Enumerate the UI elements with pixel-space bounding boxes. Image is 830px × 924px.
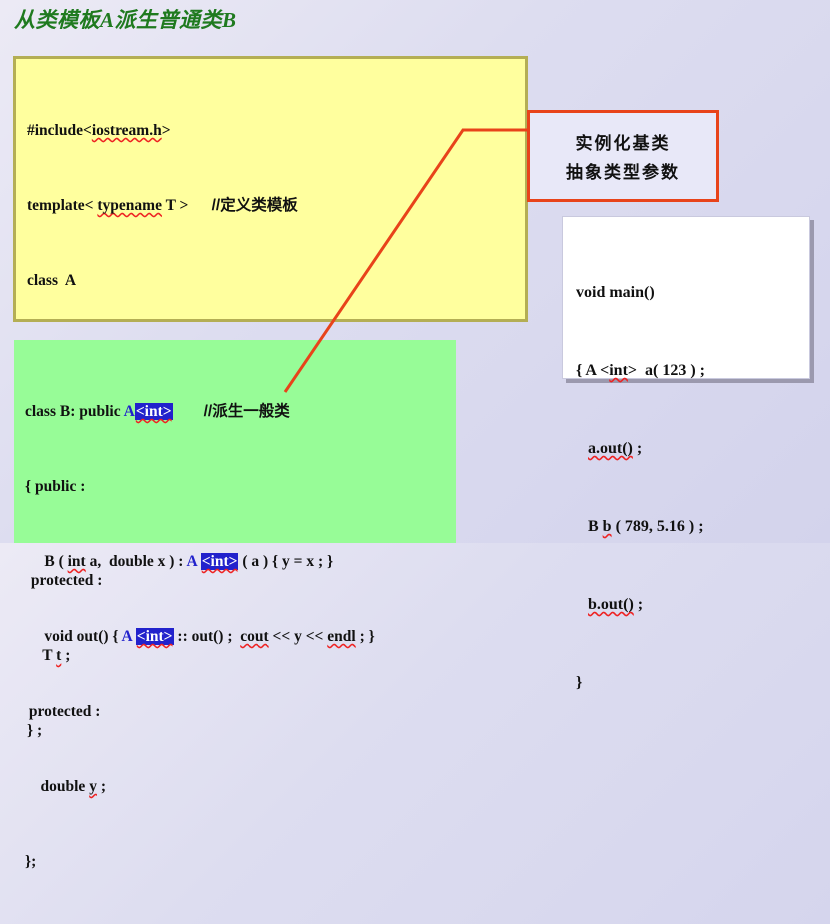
- instantiate-base-class-callout: 实例化基类 抽象类型参数: [527, 110, 719, 202]
- token-int: int: [609, 362, 628, 379]
- code-line: class B: public A<int> //派生一般类: [25, 399, 456, 424]
- code-line: double y ;: [25, 774, 456, 799]
- page-title: 从类模板A派生普通类B: [14, 4, 237, 34]
- class-template-code-box: #include<iostream.h> template< typename …: [13, 56, 528, 322]
- code-line: void out() { A <int> :: out() ; cout << …: [25, 624, 456, 649]
- slide-canvas: 从类模板A派生普通类B #include<iostream.h> templat…: [0, 0, 830, 543]
- code-line: a.out() ;: [576, 436, 809, 462]
- code-line: };: [25, 849, 456, 874]
- token-typename: typename: [97, 197, 162, 214]
- token-endl: endl: [327, 628, 355, 645]
- code-line: { public :: [25, 474, 456, 499]
- code-line: { A <int> a( 123 ) ;: [576, 358, 809, 384]
- derived-class-code-box: class B: public A<int> //派生一般类 { public …: [14, 340, 456, 543]
- callout-line-2: 抽象类型参数: [566, 158, 680, 183]
- inline-comment-derive-class: //派生一般类: [204, 403, 290, 420]
- callout-line-1: 实例化基类: [576, 129, 671, 154]
- token-int: int: [68, 553, 86, 570]
- code-line: template< typename T > //定义类模板: [27, 193, 525, 218]
- token-base-class-a: A<int>: [124, 403, 173, 420]
- token-a-out: a.out(): [588, 440, 633, 457]
- token-base-class-a: A <int>: [122, 628, 174, 645]
- token-iostream: iostream.h: [92, 122, 162, 139]
- code-line: b.out() ;: [576, 592, 809, 618]
- token-base-class-a: A <int>: [186, 553, 238, 570]
- code-line: }: [576, 670, 809, 696]
- inline-comment-define-template: //定义类模板: [212, 197, 298, 214]
- main-function-code-box: void main() { A <int> a( 123 ) ; a.out()…: [562, 216, 810, 379]
- token-cout: cout: [240, 628, 268, 645]
- code-line: protected :: [25, 699, 456, 724]
- code-line: B ( int a, double x ) : A <int> ( a ) { …: [25, 549, 456, 574]
- code-line: class A: [27, 268, 525, 293]
- token-b-out: b.out(): [588, 596, 634, 613]
- token-y: y: [89, 778, 97, 795]
- code-line: B b ( 789, 5.16 ) ;: [576, 514, 809, 540]
- token-t: t: [56, 647, 61, 664]
- code-line: #include<iostream.h>: [27, 118, 525, 143]
- code-line: void main(): [576, 280, 809, 306]
- token-b: b: [603, 518, 612, 535]
